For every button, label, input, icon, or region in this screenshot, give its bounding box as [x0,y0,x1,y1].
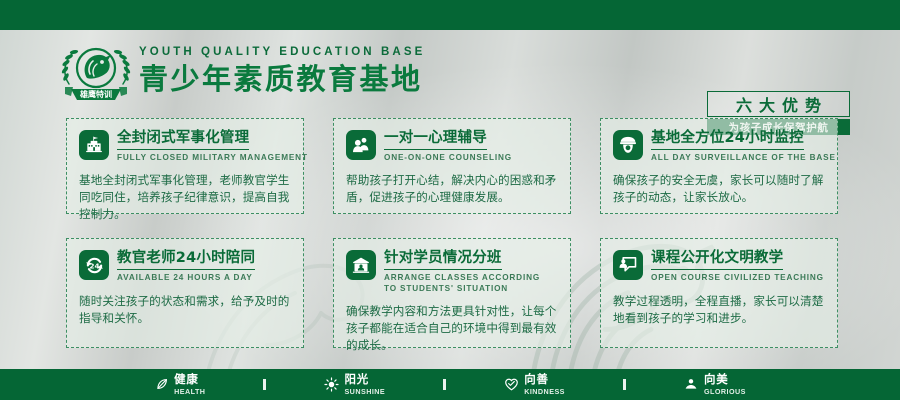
card-title-en: ALL DAY SURVEILLANCE OF THE BASE [651,153,825,164]
svg-text:24: 24 [89,261,99,270]
value-label-cn: 健康 [174,374,205,386]
value-label-cn: 向美 [704,374,746,386]
card-body-text: 教学过程透明，全程直播，家长可以清楚地看到孩子的学习和进步。 [613,293,825,327]
card-header: 一对一心理辅导 ONE-ON-ONE COUNSELING [346,129,558,164]
card-title-group: 针对学员情况分班 ARRANGE CLASSES ACCORDING TO ST… [384,249,558,294]
card-title-en: ARRANGE CLASSES ACCORDING TO STUDENTS' S… [384,273,556,294]
advantage-card[interactable]: 24 教官老师24小时陪同 AVAILABLE 24 HOURS A DAY 随… [66,238,304,348]
value-label-cn: 向善 [524,374,565,386]
card-title-cn: 一对一心理辅导 [384,130,487,150]
badge-title: 六大优势 [729,92,828,116]
card-title-cn: 基地全方位24小时监控 [651,130,804,150]
advantage-card[interactable]: 全封闭式军事化管理 FULLY CLOSED MILITARY MANAGEME… [66,118,304,214]
sun-icon [324,377,339,392]
page-title: 青少年素质教育基地 [139,62,425,96]
card-header: 课程公开化文明教学 OPEN COURSE CIVILIZED TEACHING [613,249,825,284]
card-title-group: 基地全方位24小时监控 ALL DAY SURVEILLANCE OF THE … [651,129,825,164]
advantage-card[interactable]: 针对学员情况分班 ARRANGE CLASSES ACCORDING TO ST… [333,238,571,348]
value-divider [443,379,446,390]
value-label-en: SUNSHINE [344,388,385,395]
card-title-en: FULLY CLOSED MILITARY MANAGEMENT [117,153,291,164]
clock-24-hours-icon: 24 [79,250,109,280]
card-title-cn: 全封闭式军事化管理 [117,130,249,150]
card-header: 24 教官老师24小时陪同 AVAILABLE 24 HOURS A DAY [79,249,291,284]
leaf-icon [154,377,169,392]
heart-icon [504,377,519,392]
value-label-en: KINDNESS [524,388,565,395]
advantage-card[interactable]: 课程公开化文明教学 OPEN COURSE CIVILIZED TEACHING… [600,238,838,348]
card-body-text: 基地全封闭式军事化管理，老师教官学生同吃同住，培养孩子纪律意识，提高自我控制力。 [79,172,291,223]
card-title-en: AVAILABLE 24 HOURS A DAY [117,273,291,284]
advantage-card[interactable]: 基地全方位24小时监控 ALL DAY SURVEILLANCE OF THE … [600,118,838,214]
value-item-kindness[interactable]: 向善 KINDNESS [504,374,565,395]
card-header: 基地全方位24小时监控 ALL DAY SURVEILLANCE OF THE … [613,129,825,164]
poster-canvas: 雄鹰特训 YOUTH QUALITY EDUCATION BASE 青少年素质教… [0,0,900,400]
english-title: YOUTH QUALITY EDUCATION BASE [139,46,425,59]
card-body-text: 随时关注孩子的状态和需求，给予及时的指导和关怀。 [79,293,291,327]
advantage-card[interactable]: 一对一心理辅导 ONE-ON-ONE COUNSELING 帮助孩子打开心结，解… [333,118,571,214]
badge-title-box: 六大优势 [707,91,850,117]
two-people-counseling-icon [346,130,376,160]
poster-header: 雄鹰特训 YOUTH QUALITY EDUCATION BASE 青少年素质教… [0,36,900,108]
value-divider [263,379,266,390]
card-title-cn: 针对学员情况分班 [384,250,502,270]
advantages-grid: 全封闭式军事化管理 FULLY CLOSED MILITARY MANAGEME… [66,118,838,358]
speech-bubble-person-icon [613,250,643,280]
value-item-glorious[interactable]: 向美 GLORIOUS [684,374,746,395]
core-values-strip: 健康 HEALTH 阳光 SUNSHINE [0,369,900,400]
card-title-en: OPEN COURSE CIVILIZED TEACHING [651,273,825,284]
card-title-group: 教官老师24小时陪同 AVAILABLE 24 HOURS A DAY [117,249,291,284]
card-title-en: ONE-ON-ONE COUNSELING [384,153,558,164]
eagle-emblem-logo: 雄鹰特训 [57,44,135,104]
card-title-group: 全封闭式军事化管理 FULLY CLOSED MILITARY MANAGEME… [117,129,291,164]
card-title-group: 一对一心理辅导 ONE-ON-ONE COUNSELING [384,129,558,164]
card-title-cn: 教官老师24小时陪同 [117,250,255,270]
top-green-band [0,0,900,30]
value-label-group: 健康 HEALTH [174,374,205,395]
card-title-cn: 课程公开化文明教学 [651,250,783,270]
card-title-group: 课程公开化文明教学 OPEN COURSE CIVILIZED TEACHING [651,249,825,284]
school-building-flag-icon [79,130,109,160]
card-body-text: 帮助孩子打开心结，解决内心的困惑和矛盾，促进孩子的心理健康发展。 [346,172,558,206]
person-icon [684,377,699,392]
value-label-cn: 阳光 [344,374,385,386]
value-label-group: 向美 GLORIOUS [704,374,746,395]
value-label-en: GLORIOUS [704,388,746,395]
value-label-group: 阳光 SUNSHINE [344,374,385,395]
card-header: 全封闭式军事化管理 FULLY CLOSED MILITARY MANAGEME… [79,129,291,164]
card-body-text: 确保教学内容和方法更具针对性，让每个孩子都能在适合自己的环境中得到最有效的成长。 [346,303,558,354]
card-body-text: 确保孩子的安全无虞，家长可以随时了解孩子的动态，让家长放心。 [613,172,825,206]
card-header: 针对学员情况分班 ARRANGE CLASSES ACCORDING TO ST… [346,249,558,294]
logo-ribbon-text: 雄鹰特训 [79,89,112,99]
value-item-sunshine[interactable]: 阳光 SUNSHINE [324,374,385,395]
dome-security-camera-icon [613,130,643,160]
value-item-health[interactable]: 健康 HEALTH [154,374,205,395]
value-divider [623,379,626,390]
classroom-student-icon [346,250,376,280]
value-label-en: HEALTH [174,388,205,395]
title-block: YOUTH QUALITY EDUCATION BASE 青少年素质教育基地 [139,46,425,96]
value-label-group: 向善 KINDNESS [524,374,565,395]
